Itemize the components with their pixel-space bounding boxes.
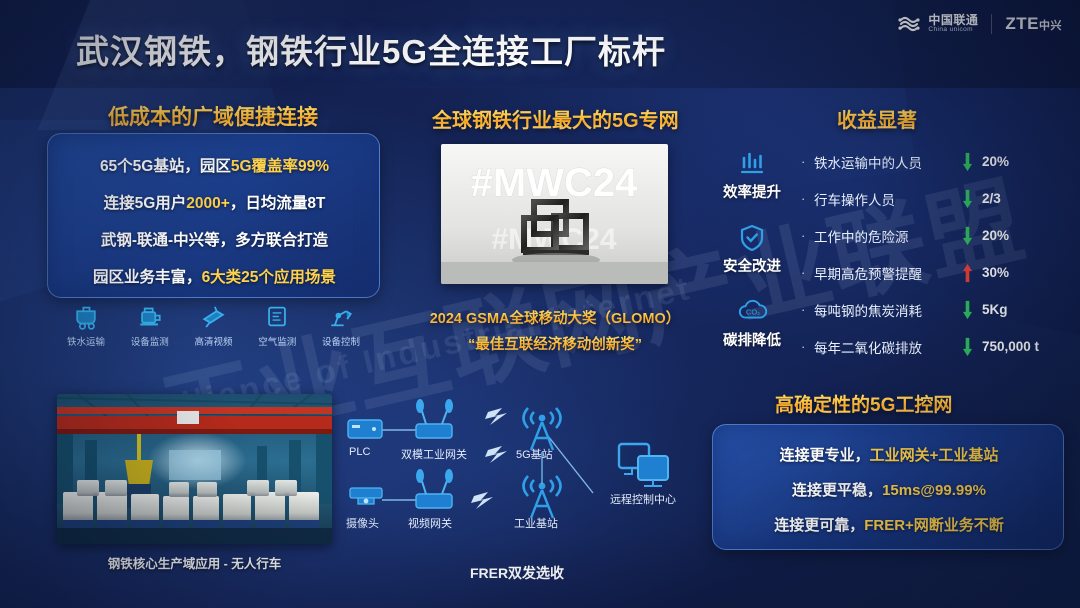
vignette-overlay xyxy=(0,0,1080,608)
slide-canvas: 工业互联网产业联盟 Alliance of Industrial Interne… xyxy=(0,0,1080,608)
